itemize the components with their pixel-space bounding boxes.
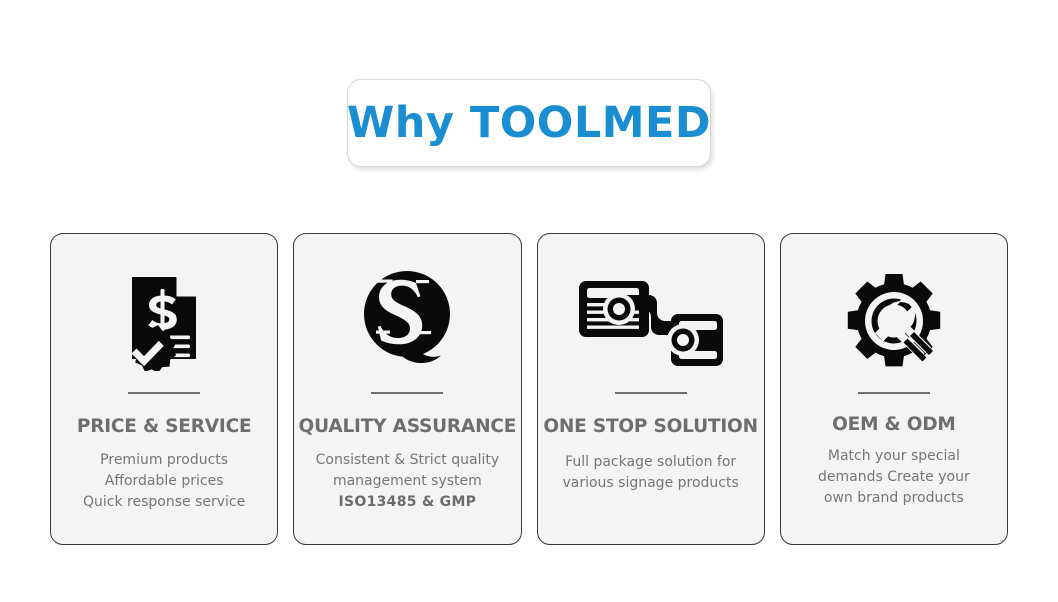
gear-wrench-icon [781,256,1007,386]
feature-card-price-service[interactable]: PRICE & SERVICE Premium products Afforda… [50,233,278,545]
invoice-dollar-verified-icon [51,256,277,386]
card-description-line: demands Create your [791,467,997,488]
card-description-line: Quick response service [61,492,267,513]
card-certification-line: ISO13485 & GMP [304,492,510,513]
why-toolmed-section: Why TOOLMED [0,0,1058,602]
card-divider [858,392,930,394]
card-description: Match your special demands Create your o… [781,446,1007,509]
card-description: Premium products Affordable prices Quick… [51,450,277,513]
card-divider [371,392,443,394]
card-description-line: Match your special [791,446,997,467]
card-divider [615,392,687,394]
page-title: Why TOOLMED [347,102,711,145]
card-description-line: Consistent & Strict quality [304,450,510,471]
feature-card-row: PRICE & SERVICE Premium products Afforda… [50,233,1008,545]
section-title-banner: Why TOOLMED [347,79,711,167]
card-divider [128,392,200,394]
card-description-line: Affordable prices [61,471,267,492]
card-description: Full package solution for various signag… [538,452,764,494]
card-description-line: management system [304,471,510,492]
card-title: OEM & ODM [832,416,955,435]
feature-card-oem-odm[interactable]: OEM & ODM Match your special demands Cre… [780,233,1008,545]
card-description-line: Premium products [61,450,267,471]
card-title: PRICE & SERVICE [77,418,252,437]
card-description-line: Full package solution for [548,452,754,473]
card-title: QUALITY ASSURANCE [299,418,517,437]
connected-nodes-workflow-icon [538,256,764,386]
sq-monogram-quality-icon [294,256,520,386]
card-description: Consistent & Strict quality management s… [294,450,520,513]
card-title: ONE STOP SOLUTION [543,418,757,437]
card-description-line: own brand products [791,488,997,509]
card-description-line: various signage products [548,473,754,494]
feature-card-one-stop-solution[interactable]: ONE STOP SOLUTION Full package solution … [537,233,765,545]
feature-card-quality-assurance[interactable]: QUALITY ASSURANCE Consistent & Strict qu… [293,233,521,545]
